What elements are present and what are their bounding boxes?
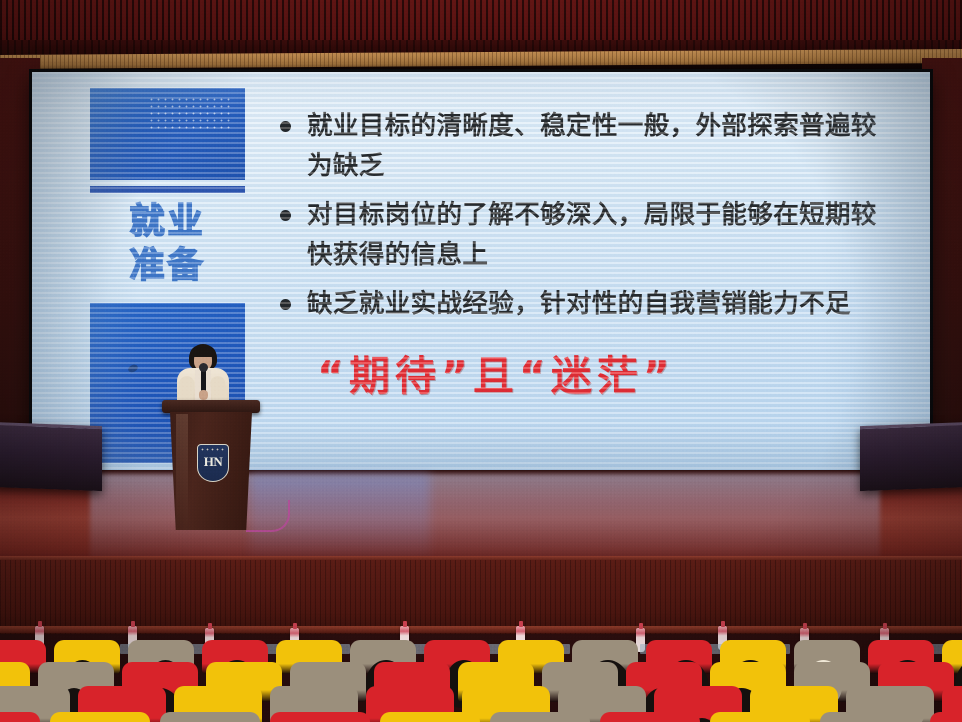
audience-seat bbox=[0, 712, 40, 722]
audience-seat bbox=[270, 712, 370, 722]
presenter-fringe bbox=[190, 346, 216, 357]
bullet-dot-icon bbox=[280, 121, 291, 132]
audience-seat bbox=[490, 712, 590, 722]
list-item: 对目标岗位的了解不够深入，局限于能够在短期较快获得的信息上 bbox=[277, 195, 887, 275]
slide-section-title-line1: 就业 bbox=[90, 200, 245, 244]
bullet-text: 就业目标的清晰度、稳定性一般，外部探索普遍较为缺乏 bbox=[307, 111, 877, 181]
audience-seat bbox=[820, 712, 920, 722]
auditorium-photo: 就业 准备 就业目标的清晰度、稳定性一般，外部探索普遍较为缺乏 对目标岗位的了解… bbox=[0, 0, 962, 722]
bullet-text: 缺乏就业实战经验，针对性的自我营销能力不足 bbox=[307, 289, 851, 319]
audience-seat bbox=[710, 712, 810, 722]
microphone-head-icon bbox=[199, 363, 208, 372]
dot-pattern-icon bbox=[148, 96, 233, 132]
slide-headline: “期待”且“迷茫” bbox=[317, 342, 675, 402]
audience-seat bbox=[380, 712, 480, 722]
podium: HN bbox=[166, 400, 256, 532]
photo-speck bbox=[127, 363, 139, 374]
podium-top bbox=[162, 400, 260, 413]
bullet-text: 对目标岗位的了解不够深入，局限于能够在短期较快获得的信息上 bbox=[307, 200, 877, 270]
podium-logo-text: HN bbox=[204, 454, 223, 470]
stage-floor bbox=[0, 470, 962, 570]
bullet-dot-icon bbox=[280, 299, 291, 310]
audience-seating bbox=[0, 600, 962, 722]
blue-decor-box bbox=[90, 88, 245, 180]
microphone-cable bbox=[246, 500, 290, 532]
list-item: 缺乏就业实战经验，针对性的自我营销能力不足 bbox=[277, 284, 887, 324]
slide-section-title: 就业 准备 bbox=[90, 200, 245, 288]
presenter-hand bbox=[199, 390, 208, 400]
audience-seat bbox=[50, 712, 150, 722]
podium-highlight bbox=[176, 414, 188, 526]
stage-monitor-left bbox=[0, 422, 102, 491]
audience-seat bbox=[160, 712, 260, 722]
sidebar-divider bbox=[90, 186, 245, 193]
audience-seat bbox=[600, 712, 700, 722]
audience-seat bbox=[930, 712, 962, 722]
stage-monitor-right bbox=[860, 422, 962, 491]
bullet-dot-icon bbox=[280, 210, 291, 221]
shield-stars-icon bbox=[200, 447, 224, 453]
slide-bullet-list: 就业目标的清晰度、稳定性一般，外部探索普遍较为缺乏 对目标岗位的了解不够深入，局… bbox=[277, 106, 887, 333]
slide-section-title-line2: 准备 bbox=[90, 244, 245, 288]
list-item: 就业目标的清晰度、稳定性一般，外部探索普遍较为缺乏 bbox=[277, 106, 887, 186]
